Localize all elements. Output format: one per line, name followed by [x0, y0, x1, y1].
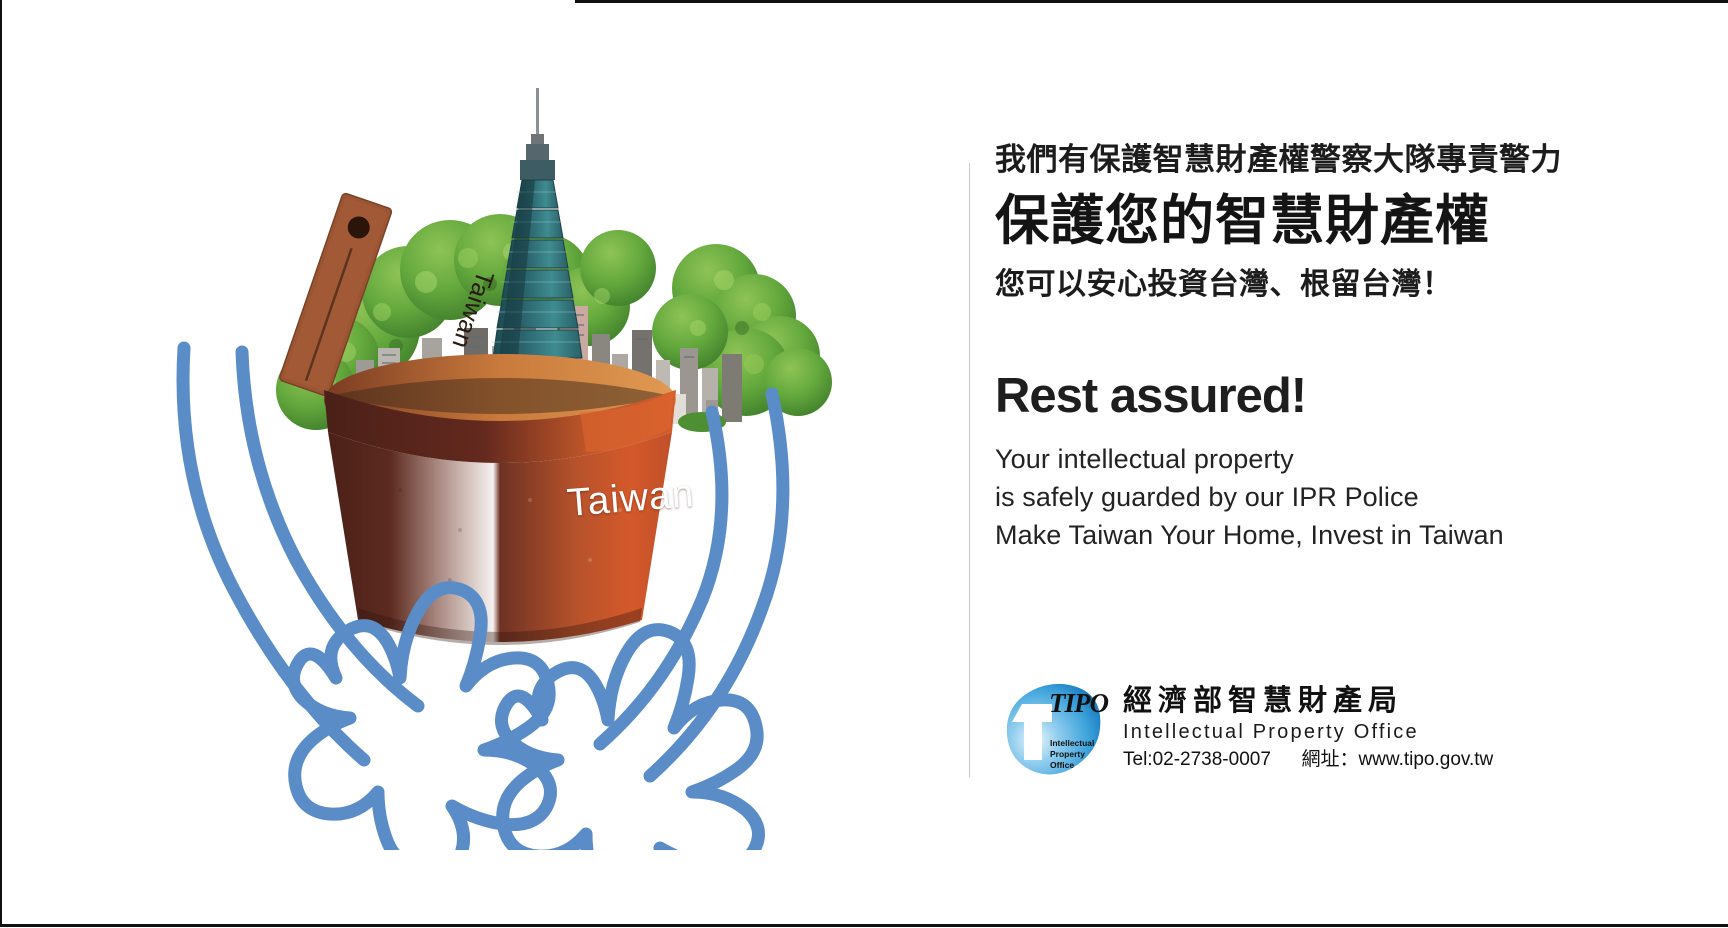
headline-cn-subline-bottom: 您可以安心投資台灣、根留台灣！ — [995, 264, 1695, 306]
page-border-top — [575, 0, 1728, 3]
organization-name-en: Intellectual Property Office — [1123, 718, 1493, 746]
telephone-label: Tel:02-2738-0007 — [1123, 749, 1271, 770]
tipo-wordmark: TIPO — [1049, 690, 1108, 717]
tipo-logo-text: 經濟部智慧財產局 Intellectual Property Office Te… — [1123, 682, 1493, 773]
illustration-artwork — [150, 60, 850, 850]
headline-en-body-line-2: is safely guarded by our IPR Police — [995, 478, 1695, 516]
headline-cn-subline-top: 我們有保護智慧財產權警察大隊專責警力 — [995, 140, 1695, 180]
organization-name-cn: 經濟部智慧財產局 — [1123, 684, 1493, 718]
tipo-mark-subtext: Intellectual Property Office — [1050, 738, 1094, 771]
poster-canvas: Taiwan Taiwan 我們有保護智慧財產權警察大隊專責警力 保護您的智慧財… — [0, 0, 1728, 928]
message-column: 我們有保護智慧財產權警察大隊專責警力 保護您的智慧財產權 您可以安心投資台灣、根… — [995, 140, 1695, 554]
organization-contact: Tel:02-2738-0007 網址：www.tipo.gov.tw — [1123, 746, 1493, 773]
tipo-logo-mark: TIPO Intellectual Property Office — [1005, 682, 1105, 778]
website-label[interactable]: 網址：www.tipo.gov.tw — [1301, 749, 1493, 770]
page-border-bottom — [0, 924, 1728, 927]
headline-en-body-line-3: Make Taiwan Your Home, Invest in Taiwan — [995, 516, 1695, 554]
tipo-logo-block: TIPO Intellectual Property Office 經濟部智慧財… — [1005, 682, 1493, 778]
tipo-mark-subtext-line-2: Property — [1050, 749, 1094, 760]
flower-pot — [324, 354, 676, 645]
headline-cn-main: 保護您的智慧財產權 — [995, 184, 1695, 258]
headline-en-body: Your intellectual property is safely gua… — [995, 440, 1695, 554]
tipo-mark-subtext-line-1: Intellectual — [1050, 738, 1094, 749]
headline-en-title: Rest assured! — [995, 368, 1695, 424]
illustration-taiwan-flowerpot: Taiwan Taiwan — [150, 60, 850, 850]
vertical-divider — [969, 163, 970, 777]
headline-en-body-line-1: Your intellectual property — [995, 440, 1695, 478]
page-border-left — [0, 0, 2, 926]
tipo-mark-subtext-line-3: Office — [1050, 760, 1094, 771]
